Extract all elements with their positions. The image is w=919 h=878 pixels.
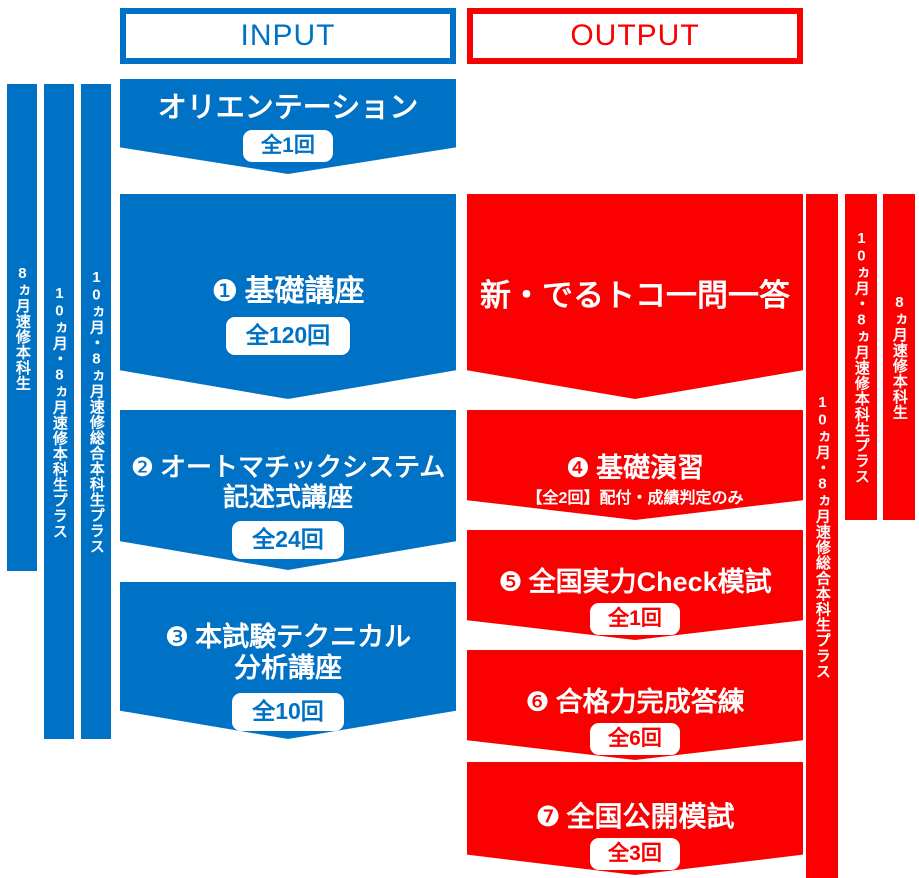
output-step-5-label: 全国実力Check模試 (529, 567, 772, 597)
step-number-6: ❻ (525, 687, 549, 719)
output-header-label: OUTPUT (570, 19, 699, 53)
output-step-deru-toko[interactable]: 新・でるトコ一問一答 (467, 194, 803, 399)
input-step-3-count: 全10回 (232, 693, 344, 731)
step-number-1: ❶ (212, 274, 239, 309)
right-course-bar-3-label: 8ヵ月速修本科生 (891, 294, 907, 420)
input-step-1[interactable]: ❶基礎講座 全120回 (120, 194, 456, 399)
input-step-1-count: 全120回 (226, 317, 350, 355)
output-step-7-count: 全3回 (590, 838, 680, 870)
step-number-7: ❼ (535, 800, 560, 833)
right-course-bar-1: 10ヵ月・8ヵ月速修総合本科生プラス (806, 194, 838, 878)
output-step-4[interactable]: ❹基礎演習 【全2回】配付・成績判定のみ (467, 410, 803, 520)
output-step-6-count: 全6回 (590, 723, 680, 755)
right-course-bar-1-label: 10ヵ月・8ヵ月速修総合本科生プラス (814, 394, 830, 679)
input-step-orientation-count: 全1回 (243, 130, 333, 162)
output-step-4-title: ❹基礎演習 (566, 422, 704, 486)
course-flow-diagram: INPUT OUTPUT 8ヵ月速修本科生 10ヵ月・8ヵ月速修本科生プラス 1… (0, 0, 919, 878)
left-course-bar-3-label: 10ヵ月・8ヵ月速修総合本科生プラス (88, 269, 104, 554)
right-course-bar-2: 10ヵ月・8ヵ月速修本科生プラス (845, 194, 877, 520)
output-column-header: OUTPUT (467, 8, 803, 64)
step-number-3: ❸ (165, 622, 189, 654)
input-step-1-title: ❶基礎講座 (212, 238, 365, 309)
step-number-5: ❺ (498, 567, 522, 599)
left-course-bar-2: 10ヵ月・8ヵ月速修本科生プラス (44, 84, 74, 739)
output-step-6-title: ❻合格力完成答練 (525, 655, 744, 719)
output-step-5-title: ❺全国実力Check模試 (498, 535, 771, 599)
output-step-4-label: 基礎演習 (596, 453, 704, 483)
input-step-orientation-title: オリエンテーション (158, 91, 418, 125)
output-step-7[interactable]: ❼全国公開模試 全3回 (467, 762, 803, 875)
input-step-3[interactable]: ❸本試験テクニカル 分析講座 全10回 (120, 582, 456, 739)
output-step-6[interactable]: ❻合格力完成答練 全6回 (467, 650, 803, 760)
input-step-2-title: ❷オートマチックシステム 記述式講座 (131, 421, 446, 513)
input-step-3-title: ❸本試験テクニカル 分析講座 (165, 590, 411, 686)
right-course-bar-2-label: 10ヵ月・8ヵ月速修本科生プラス (853, 230, 869, 484)
output-step-4-note: 【全2回】配付・成績判定のみ (527, 489, 744, 508)
left-course-bar-3: 10ヵ月・8ヵ月速修総合本科生プラス (81, 84, 111, 739)
input-step-1-label: 基礎講座 (244, 275, 364, 308)
output-step-5-count: 全1回 (590, 603, 680, 635)
input-column-header: INPUT (120, 8, 456, 64)
left-course-bar-1: 8ヵ月速修本科生 (7, 84, 37, 571)
input-step-2-count: 全24回 (232, 521, 344, 559)
step-number-4: ❹ (566, 453, 590, 485)
left-course-bar-2-label: 10ヵ月・8ヵ月速修本科生プラス (51, 285, 67, 539)
output-step-5[interactable]: ❺全国実力Check模試 全1回 (467, 530, 803, 640)
input-step-3-label: 本試験テクニカル 分析講座 (195, 622, 411, 684)
output-step-7-title: ❼全国公開模試 (535, 767, 734, 833)
input-header-label: INPUT (241, 19, 336, 53)
output-step-6-label: 合格力完成答練 (556, 687, 745, 717)
input-step-orientation[interactable]: オリエンテーション 全1回 (120, 79, 456, 174)
right-course-bar-3: 8ヵ月速修本科生 (883, 194, 915, 520)
step-number-2: ❷ (131, 452, 154, 483)
output-step-deru-toko-title: 新・でるトコ一問一答 (480, 278, 790, 315)
output-step-7-label: 全国公開模試 (567, 801, 735, 832)
input-step-2-label: オートマチックシステム 記述式講座 (160, 452, 445, 513)
left-course-bar-1-label: 8ヵ月速修本科生 (14, 265, 30, 391)
input-step-2[interactable]: ❷オートマチックシステム 記述式講座 全24回 (120, 410, 456, 570)
